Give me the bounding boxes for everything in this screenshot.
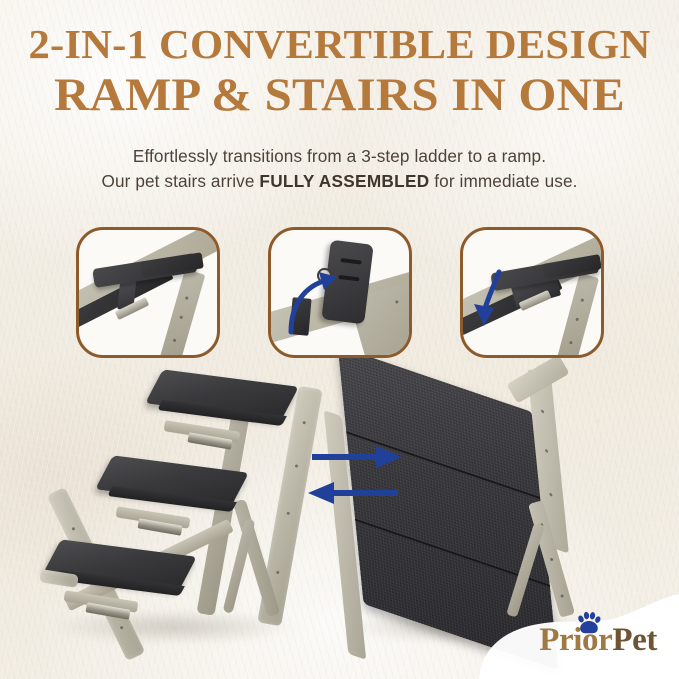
vent-slot <box>340 258 361 265</box>
subtitle-line-2-pre: Our pet stairs arrive <box>102 171 260 191</box>
screw-dot <box>541 409 544 413</box>
headline-line-2: RAMP & STAIRS IN ONE <box>0 72 679 119</box>
screw-dot <box>173 339 177 343</box>
arrow-to-stairs-icon <box>308 482 398 504</box>
subtitle-emphasis: FULLY ASSEMBLED <box>259 171 429 191</box>
arrow-down-icon <box>471 266 525 332</box>
screw-dot <box>286 512 289 515</box>
arrow-up-right-icon <box>285 270 355 340</box>
screw-dot <box>179 315 183 319</box>
screw-dot <box>276 571 279 574</box>
arrow-to-ramp-icon <box>312 446 402 468</box>
frame-leg <box>555 273 599 355</box>
screw-dot <box>549 493 552 497</box>
screw-dot <box>550 558 554 562</box>
detail-panel-step-folding[interactable] <box>268 227 412 358</box>
subtitle-line-2: Our pet stairs arrive FULLY ASSEMBLED fo… <box>0 169 679 194</box>
headline-block: 2-IN-1 CONVERTIBLE DESIGN RAMP & STAIRS … <box>0 24 679 119</box>
subtitle-block: Effortlessly transitions from a 3-step l… <box>0 144 679 195</box>
detail-panel-row <box>76 227 604 358</box>
screw-dot <box>120 626 124 630</box>
panel-2-artwork <box>271 230 409 355</box>
detail-panel-step-deployed[interactable] <box>76 227 220 358</box>
subtitle-line-2-post: for immediate use. <box>429 171 577 191</box>
screw-dot <box>185 296 189 300</box>
subtitle-line-1: Effortlessly transitions from a 3-step l… <box>0 144 679 169</box>
screw-dot <box>395 300 399 304</box>
headline-line-1: 2-IN-1 CONVERTIBLE DESIGN <box>0 24 679 65</box>
panel-1-artwork <box>79 230 217 355</box>
paw-print-icon <box>576 611 602 635</box>
screw-dot <box>569 341 573 345</box>
logo-text-pet: Pet <box>612 622 657 658</box>
screw-dot <box>545 449 548 453</box>
screw-dot <box>295 464 298 467</box>
transition-arrow-group <box>300 432 410 520</box>
screw-dot <box>302 421 305 424</box>
screw-dot <box>581 298 585 302</box>
hero-stairs-mode[interactable] <box>38 372 334 662</box>
panel-3-artwork <box>463 230 601 355</box>
detail-panel-step-lowering[interactable] <box>460 227 604 358</box>
screw-dot <box>71 527 75 531</box>
screw-dot <box>575 318 579 322</box>
